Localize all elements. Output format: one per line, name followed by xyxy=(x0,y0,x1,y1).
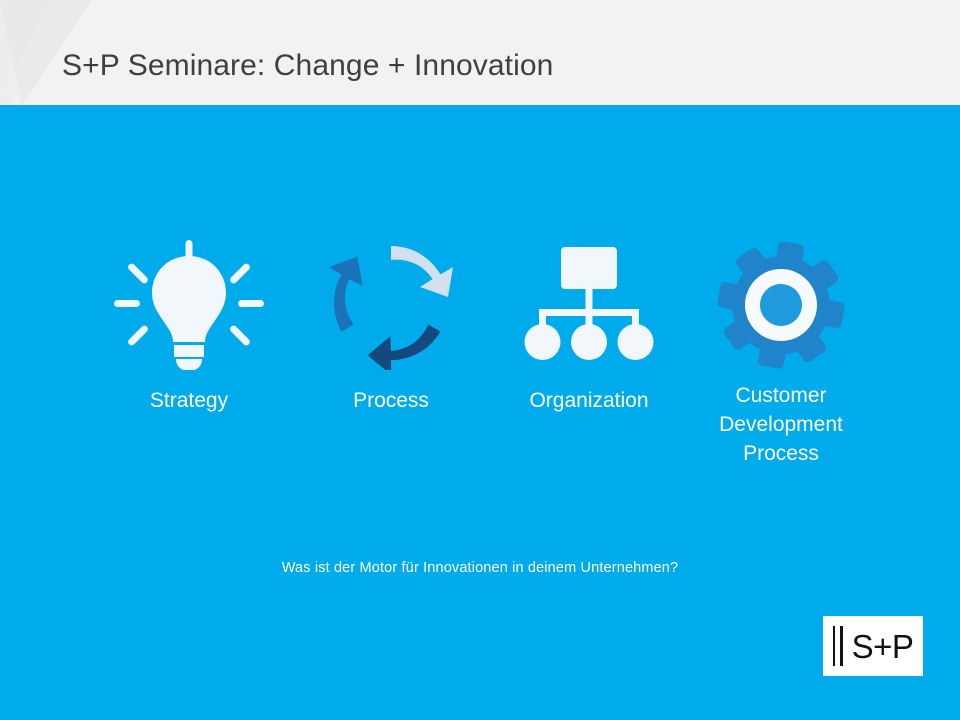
pillar-customer-development-process[interactable]: Customer Development Process xyxy=(686,240,876,468)
logo-text: S+P xyxy=(852,630,914,663)
pillar-organization[interactable]: Organization xyxy=(494,240,684,415)
org-chart-icon-wrap xyxy=(494,240,684,370)
logo-bars-icon xyxy=(833,626,843,666)
org-chart-icon xyxy=(524,243,654,368)
pillar-label-strategy: Strategy xyxy=(94,386,284,415)
question-text: Was ist der Motor für Innovationen in de… xyxy=(0,560,960,576)
slide: S+P Seminare: Change + Innovation xyxy=(0,0,960,720)
lightbulb-icon xyxy=(114,240,264,370)
lightbulb-icon-wrap xyxy=(94,240,284,370)
pillar-label-customer: Customer Development Process xyxy=(686,381,876,468)
gear-icon-wrap xyxy=(686,240,876,370)
slide-body: Strategy xyxy=(0,105,960,720)
pillar-label-organization: Organization xyxy=(494,386,684,415)
pillar-strategy[interactable]: Strategy xyxy=(94,240,284,415)
gear-icon xyxy=(717,241,845,369)
sp-logo: S+P xyxy=(823,616,923,676)
slide-header: S+P Seminare: Change + Innovation xyxy=(0,0,960,105)
cycle-arrows-icon-wrap xyxy=(296,240,486,370)
pillar-process[interactable]: Process xyxy=(296,240,486,415)
cycle-arrows-icon xyxy=(321,240,461,370)
pillar-label-process: Process xyxy=(296,386,486,415)
page-title: S+P Seminare: Change + Innovation xyxy=(62,49,553,83)
